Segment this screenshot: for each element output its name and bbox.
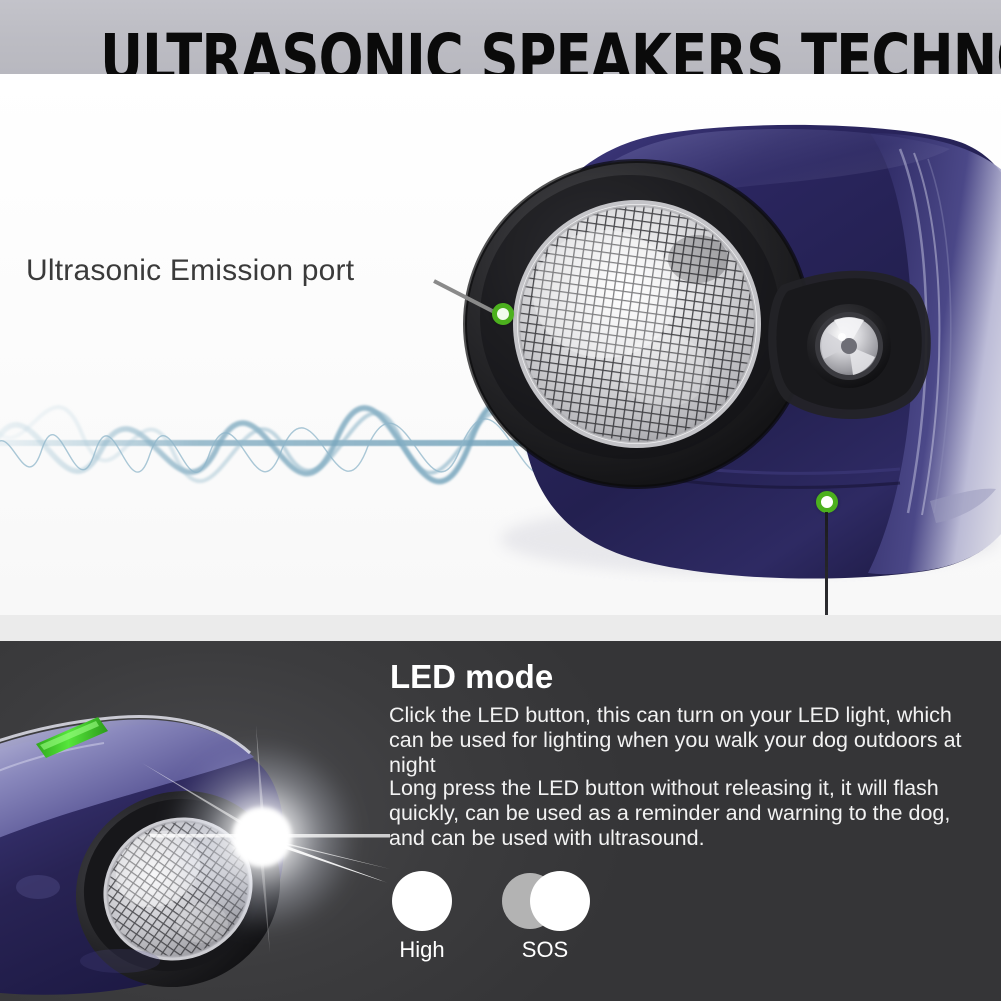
leader-line-led (825, 512, 828, 615)
mode-icon-sos-front-circle (530, 871, 590, 931)
led-mode-paragraph-1: Click the LED button, this can turn on y… (389, 703, 979, 778)
led-mode-indicators: High SOS (384, 871, 624, 991)
mode-label-sos: SOS (494, 937, 596, 963)
ultrasonic-device-illustration (430, 109, 1001, 609)
marker-emission-port (492, 303, 514, 325)
callout-label-emission-port: Ultrasonic Emission port (26, 254, 354, 288)
bottom-panel: LED mode Click the LED button, this can … (0, 641, 1001, 1001)
led-mode-paragraph-2: Long press the LED button without releas… (389, 776, 974, 851)
mode-icon-high (392, 871, 452, 931)
panel-divider (0, 615, 1001, 641)
led-device-illustration (0, 641, 390, 1001)
led-mode-heading: LED mode (390, 658, 553, 696)
mode-label-high: High (384, 937, 460, 963)
marker-led (816, 491, 838, 513)
infographic-page: ULTRASONIC SPEAKERS TECHNOLOGY (0, 0, 1001, 1001)
top-panel: Ultrasonic Emission port LED (0, 74, 1001, 615)
